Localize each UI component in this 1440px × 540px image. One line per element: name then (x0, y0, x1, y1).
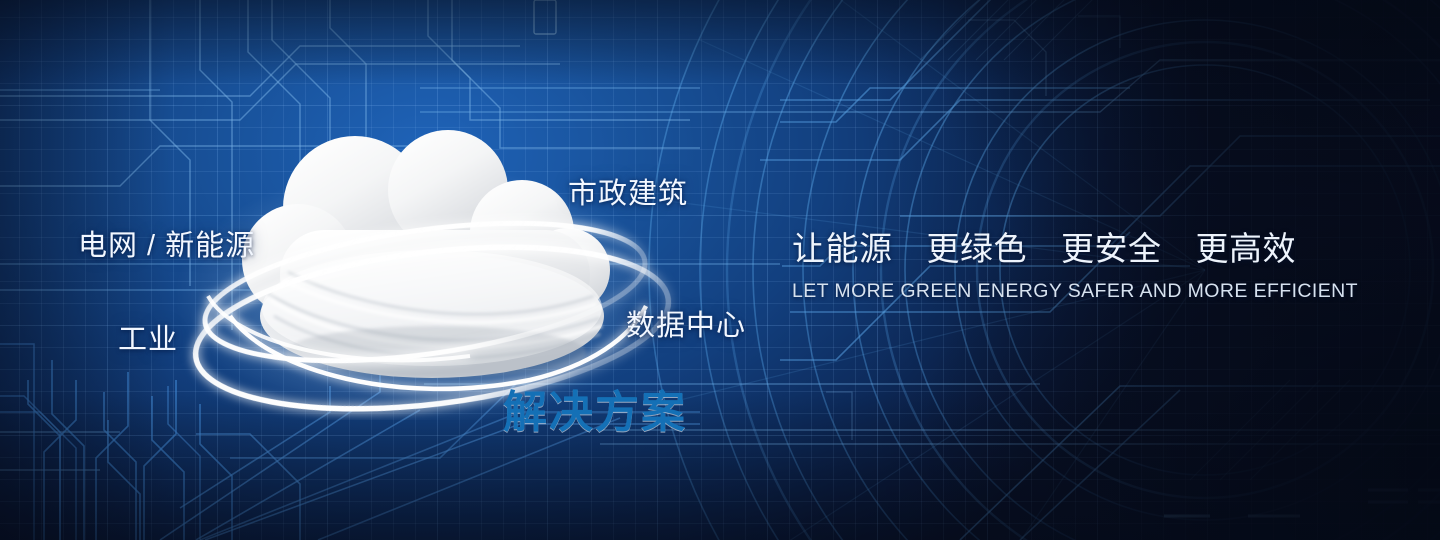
label-power-grid-new-energy: 电网 / 新能源 (78, 222, 255, 264)
slogan-segment-1: 让能源 (792, 222, 893, 270)
cloud-title: 解决方案 (503, 376, 687, 440)
label-data-center: 数据中心 (626, 302, 746, 344)
slogan-chinese: 让能源 更绿色 更安全 更高效 (792, 222, 1358, 270)
slogan-segment-2: 更绿色 (927, 222, 1028, 270)
cloud-illustration: 解决方案 (170, 120, 690, 420)
slogan-block: 让能源 更绿色 更安全 更高效 LET MORE GREEN ENERGY SA… (792, 222, 1358, 303)
solution-banner: 解决方案 /* placeholder to keep order readab… (0, 0, 1440, 540)
cloud-graphic (170, 120, 690, 420)
label-municipal-building: 市政建筑 (568, 170, 688, 212)
slogan-segment-3: 更安全 (1061, 222, 1162, 270)
slogan-english: LET MORE GREEN ENERGY SAFER AND MORE EFF… (792, 280, 1358, 303)
label-industry: 工业 (118, 316, 178, 358)
slogan-segment-4: 更高效 (1196, 222, 1297, 270)
